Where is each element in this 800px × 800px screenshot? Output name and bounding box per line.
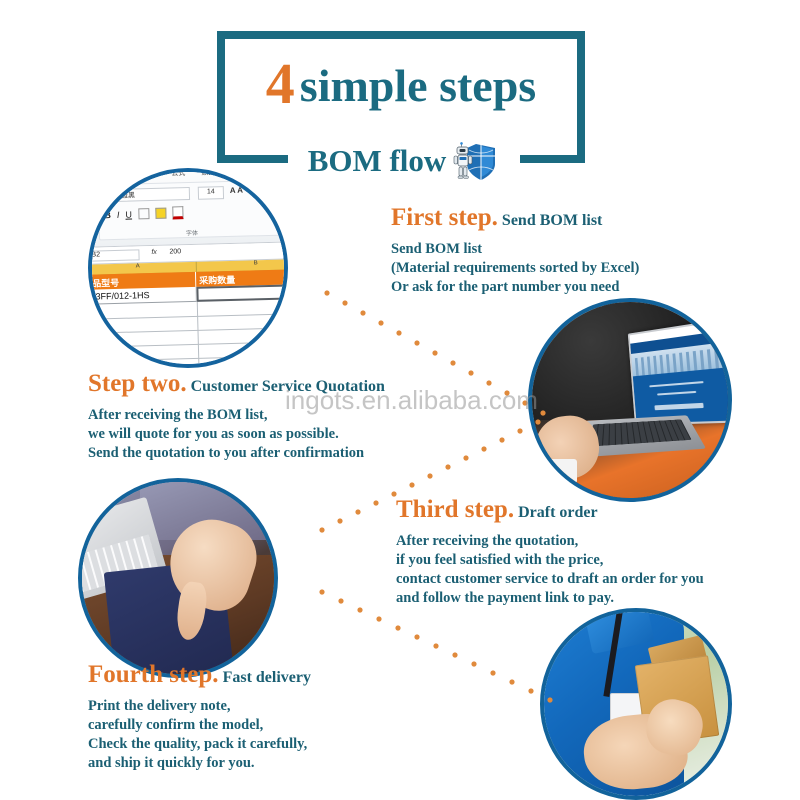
step-body: Send BOM list (Material requirements sor…: [391, 240, 639, 297]
step-count-number: 4: [266, 51, 296, 116]
excel-name-box[interactable]: B2: [88, 249, 140, 261]
laptop-keyboard: [590, 419, 691, 446]
excel-tab-page-layout[interactable]: 页面布局: [127, 169, 155, 180]
excel-spreadsheet-photo: 插入 页面布局 公式 数据 ⎙ 复制 格式刷 微软雅黑 14 A A B I U: [88, 168, 288, 368]
step-heading: First step. Send BOM list: [391, 205, 639, 230]
header-subtitle-group: BOM flow: [238, 138, 568, 182]
step-body-line: and ship it quickly for you.: [88, 754, 311, 773]
step-body-line: Send BOM list: [391, 240, 639, 259]
excel-formula-value[interactable]: 200: [169, 248, 181, 255]
step-body: Print the delivery note, carefully confi…: [88, 697, 311, 773]
excel-window: 插入 页面布局 公式 数据 ⎙ 复制 格式刷 微软雅黑 14 A A B I U: [88, 168, 288, 368]
header-subtitle: BOM flow: [308, 145, 447, 176]
hand-on-tablet-photo: [78, 478, 278, 678]
excel-borders-button[interactable]: [138, 208, 149, 219]
step-heading: Third step. Draft order: [396, 497, 704, 522]
excel-tab-formulas[interactable]: 公式: [171, 168, 185, 178]
website-text-line: [658, 391, 697, 396]
step-body-line: contact customer service to draft an ord…: [396, 570, 704, 589]
step-lead-label: Fourth step.: [88, 661, 219, 688]
step-body-line: we will quote for you as soon as possibl…: [88, 425, 385, 444]
step-sub-label: Fast delivery: [223, 669, 311, 686]
step-body-line: Or ask for the part number you need: [391, 278, 639, 297]
step-body-line: Check the quality, pack it carefully,: [88, 735, 311, 754]
step-body-line: (Material requirements sorted by Excel): [391, 259, 639, 278]
step-heading: Fourth step. Fast delivery: [88, 662, 311, 687]
step-lead-label: First step.: [391, 204, 498, 231]
excel-font-style-buttons: B I U: [104, 206, 183, 221]
excel-fx-icon[interactable]: fx: [151, 249, 157, 256]
page-title: 4 simple steps: [217, 55, 585, 113]
step-body: After receiving the quotation, if you fe…: [396, 532, 704, 608]
excel-font-size-input[interactable]: 14: [198, 186, 224, 200]
website-buttons-row: [655, 402, 704, 409]
laptop-browsing-photo: [528, 298, 732, 502]
excel-bold-button[interactable]: B: [104, 210, 111, 220]
step-body-line: Print the delivery note,: [88, 697, 311, 716]
step-block-fourth: Fourth step. Fast delivery Print the del…: [88, 662, 311, 773]
step-body-line: if you feel satisfied with the price,: [396, 551, 704, 570]
excel-underline-button[interactable]: U: [125, 209, 132, 219]
watermark: ingots.en.alibaba.com: [285, 385, 538, 416]
step-body-line: Send the quotation to you after confirma…: [88, 444, 385, 463]
infographic-canvas: 4 simple steps BOM flow: [0, 0, 800, 800]
step-lead-label: Step two.: [88, 370, 187, 397]
step-sub-label: Draft order: [518, 504, 598, 521]
website-text-line: [650, 381, 704, 387]
step-block-third: Third step. Draft order After receiving …: [396, 497, 704, 608]
step-body-line: and follow the payment link to pay.: [396, 589, 704, 608]
page-title-text: simple steps: [300, 60, 536, 111]
robot-shield-icon: [450, 138, 498, 182]
excel-tab-data[interactable]: 数据: [201, 168, 215, 178]
coffee-cup: [548, 459, 577, 486]
step-lead-label: Third step.: [396, 496, 514, 523]
step-sub-label: Send BOM list: [502, 212, 602, 229]
laptop-screen: [628, 318, 732, 425]
excel-fill-color-button[interactable]: [155, 208, 166, 219]
excel-tab-insert[interactable]: 插入: [97, 170, 111, 180]
step-block-first: First step. Send BOM list Send BOM list …: [391, 205, 639, 297]
excel-font-name-input[interactable]: 微软雅黑: [104, 187, 190, 202]
excel-italic-button[interactable]: I: [117, 209, 120, 219]
step-body-line: carefully confirm the model,: [88, 716, 311, 735]
delivery-courier-photo: [540, 608, 732, 800]
excel-grow-shrink-font-buttons[interactable]: A A: [230, 186, 243, 195]
step-body-line: After receiving the quotation,: [396, 532, 704, 551]
excel-font-color-button[interactable]: [172, 206, 183, 219]
